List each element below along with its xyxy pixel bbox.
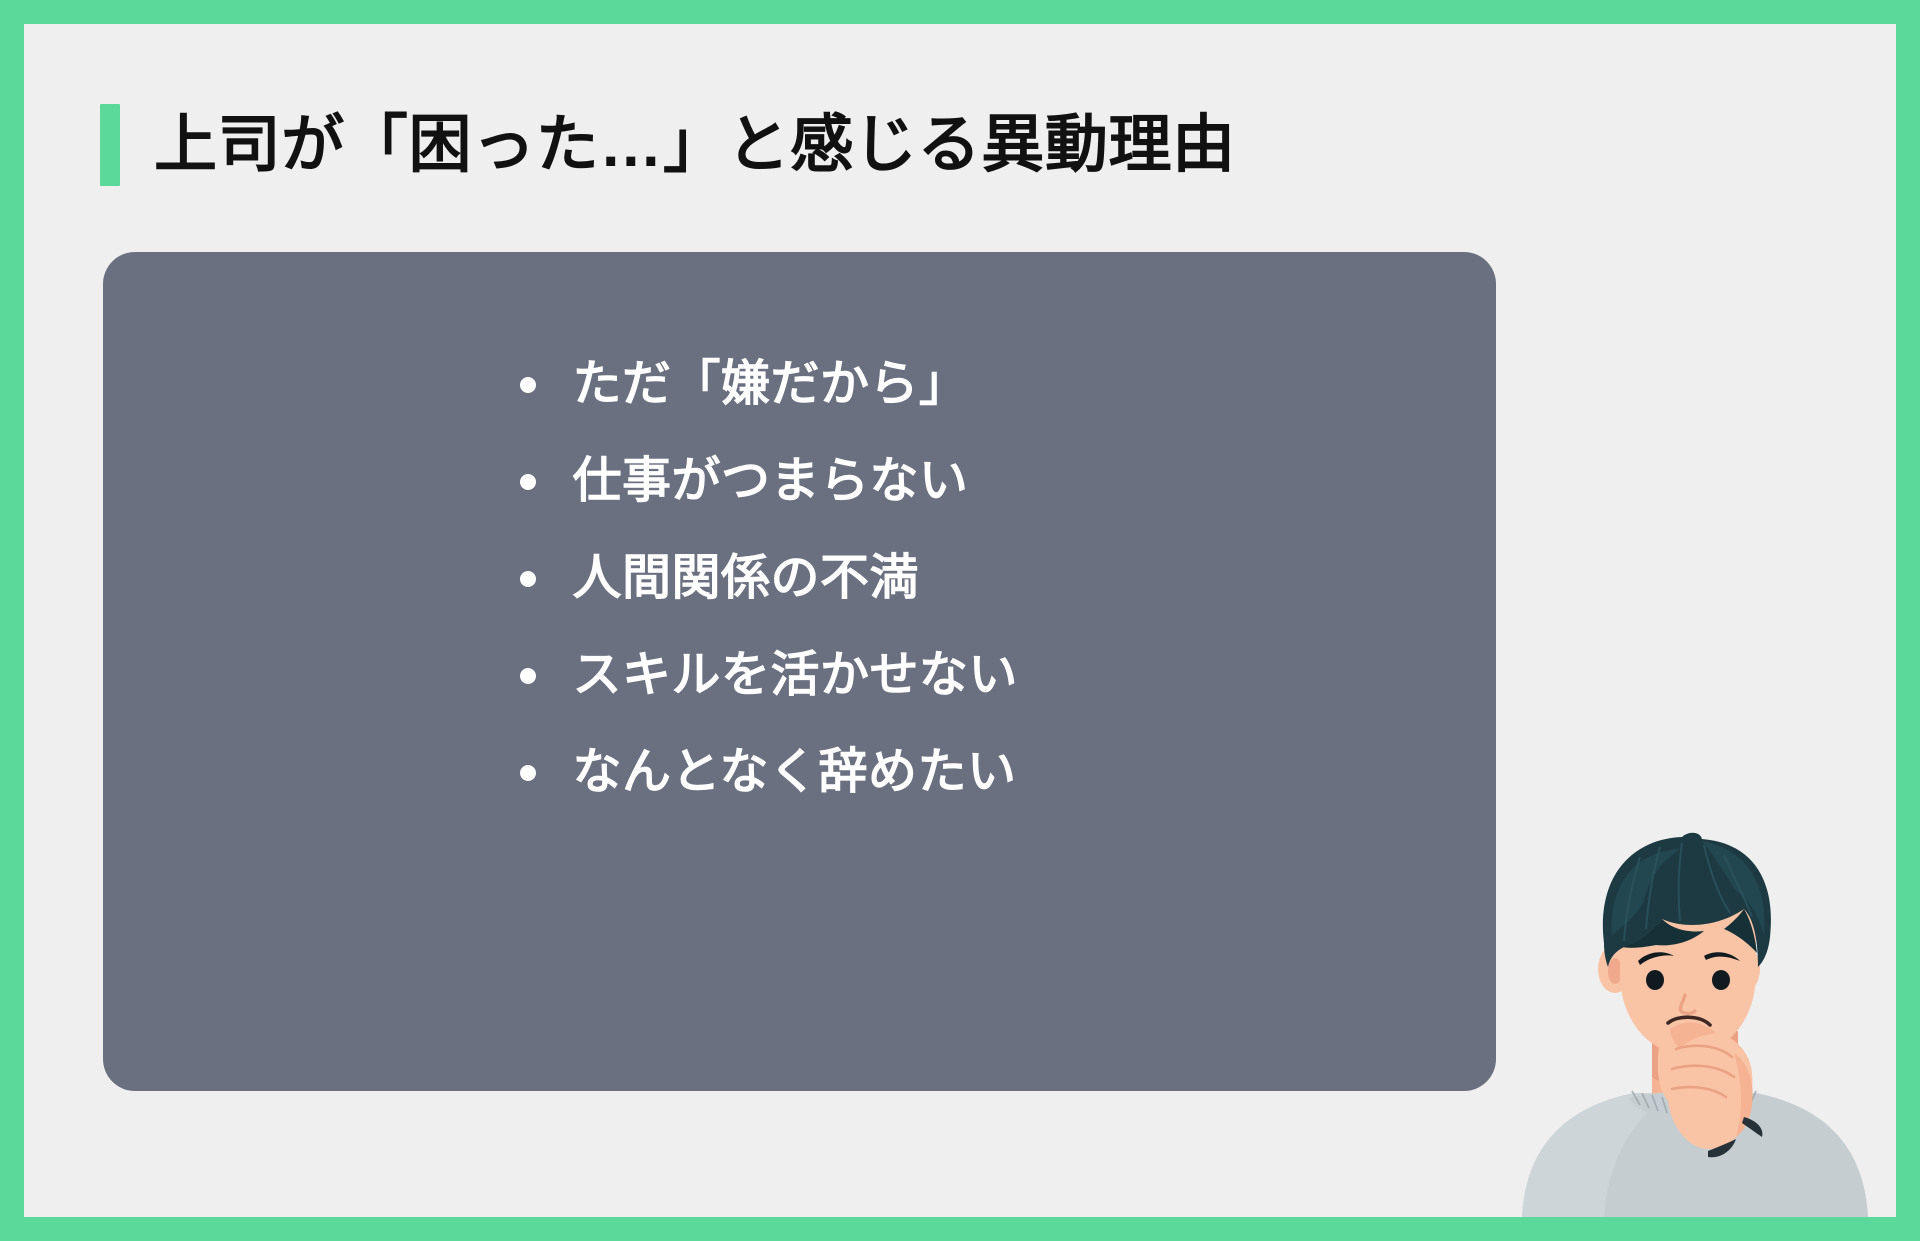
page-title-row: 上司が「困った…」と感じる異動理由	[100, 104, 1236, 186]
title-accent-bar	[100, 104, 120, 186]
slide-canvas: 上司が「困った…」と感じる異動理由 ただ「嫌だから」 仕事がつまらない 人間関係…	[24, 24, 1896, 1217]
reasons-list: ただ「嫌だから」 仕事がつまらない 人間関係の不満 スキルを活かせない なんとな	[103, 336, 1496, 821]
list-item: 人間関係の不満	[520, 530, 1080, 627]
bullet-dot-icon	[520, 474, 536, 490]
list-item: なんとなく辞めたい	[520, 724, 1080, 821]
list-item-label: ただ「嫌だから」	[573, 360, 969, 409]
bullet-dot-icon	[520, 571, 536, 587]
list-item: スキルを活かせない	[520, 627, 1080, 724]
list-item-label: 仕事がつまらない	[573, 457, 969, 506]
bullet-dot-icon	[520, 765, 536, 781]
list-item-label: スキルを活かせない	[573, 651, 1018, 700]
bullet-dot-icon	[520, 377, 536, 393]
page-title: 上司が「困った…」と感じる異動理由	[154, 112, 1236, 178]
slide-frame: 上司が「困った…」と感じる異動理由 ただ「嫌だから」 仕事がつまらない 人間関係…	[0, 0, 1920, 1241]
reasons-card: ただ「嫌だから」 仕事がつまらない 人間関係の不満 スキルを活かせない なんとな	[103, 252, 1496, 1091]
list-item: 仕事がつまらない	[520, 433, 1080, 530]
thinking-man-illustration	[1512, 817, 1878, 1217]
list-item: ただ「嫌だから」	[520, 336, 1080, 433]
list-item-label: 人間関係の不満	[573, 554, 919, 603]
bullet-dot-icon	[520, 668, 536, 684]
list-item-label: なんとなく辞めたい	[573, 748, 1017, 797]
